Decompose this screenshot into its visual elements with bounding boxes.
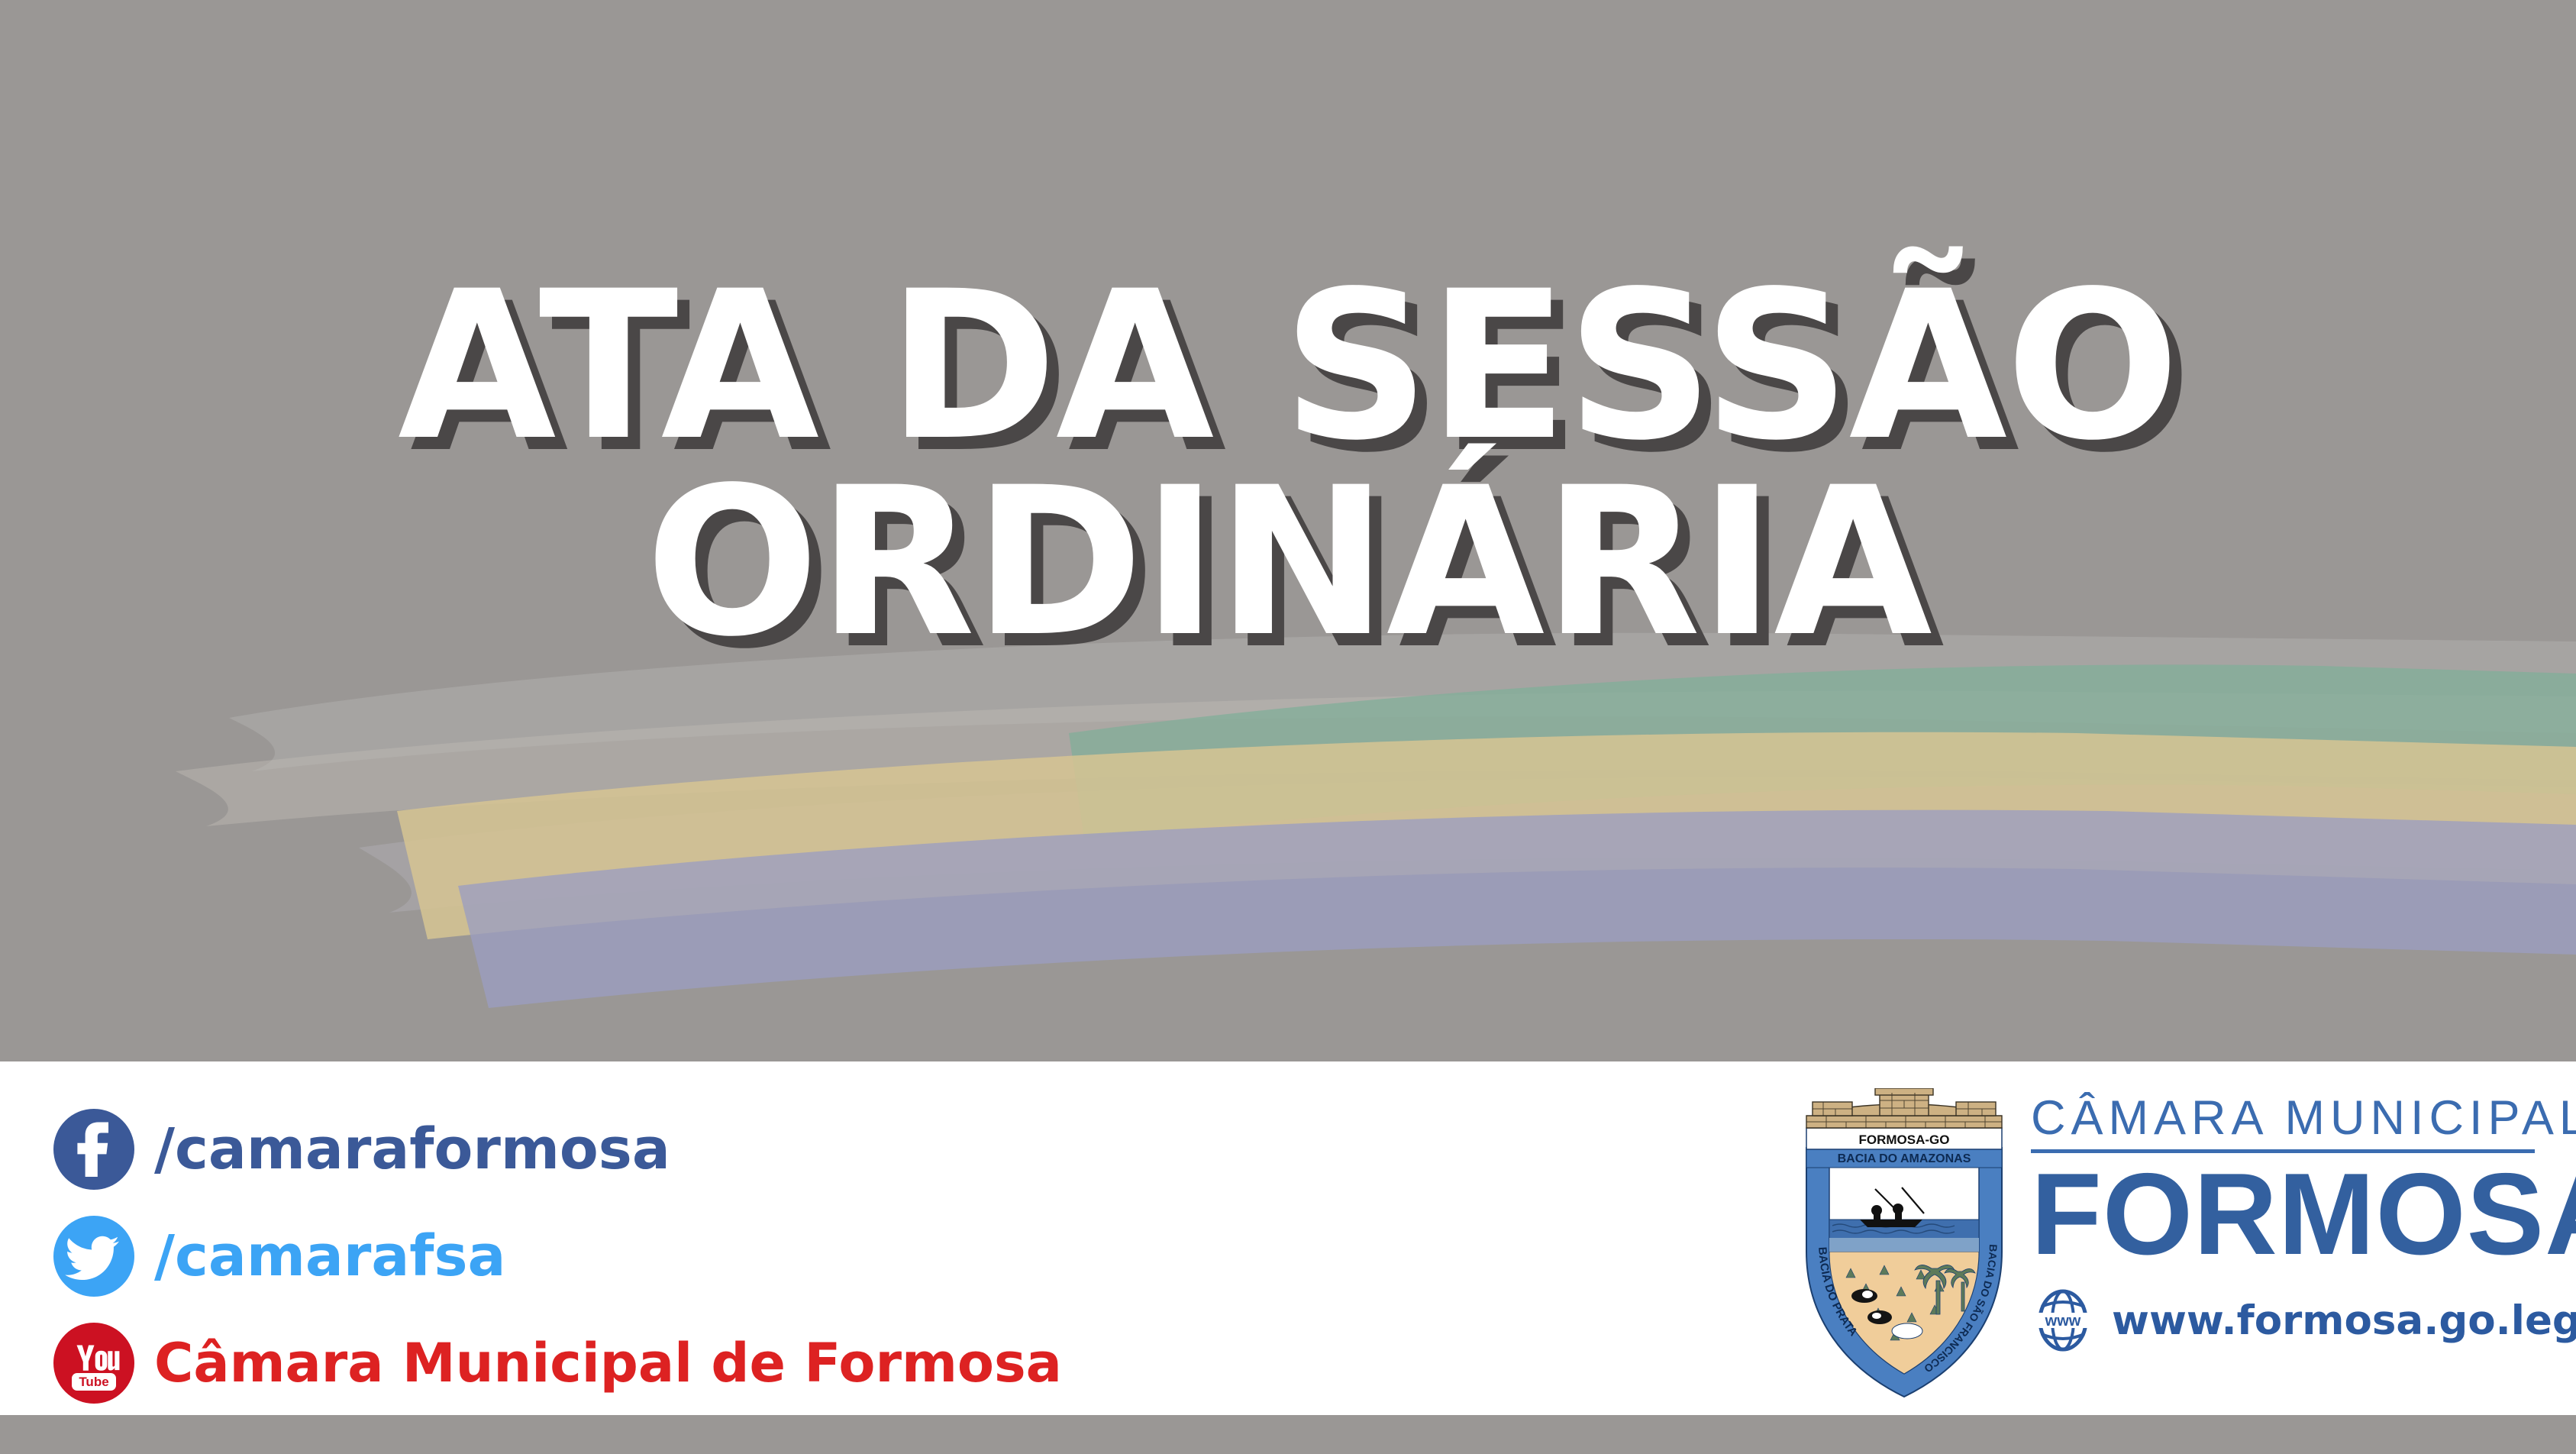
bottom-strip xyxy=(0,1415,2576,1454)
twitter-handle[interactable]: /camarafsa xyxy=(154,1228,505,1284)
svg-text:www: www xyxy=(2045,1313,2081,1330)
facebook-icon[interactable] xyxy=(53,1109,134,1190)
crest-band-label: BACIA DO AMAZONAS xyxy=(1838,1152,1971,1165)
social-row-youtube[interactable]: Tube Câmara Municipal de Formosa xyxy=(53,1310,1199,1417)
youtube-handle[interactable]: Câmara Municipal de Formosa xyxy=(154,1336,1062,1390)
page-title: ATA DA SESSÃO ORDINÁRIA xyxy=(0,269,2576,662)
www-globe-icon: www xyxy=(2031,1288,2095,1352)
social-links: /camaraformosa /camarafsa xyxy=(53,1096,1199,1417)
brand-kicker: CÂMARA MUNICIPAL xyxy=(2031,1093,2558,1143)
hero-panel: ATA DA SESSÃO ORDINÁRIA xyxy=(0,0,2576,1061)
formosa-coat-of-arms: BACIA DO AMAZONAS FORMOSA-GO xyxy=(1800,1088,2008,1401)
slide-canvas: ATA DA SESSÃO ORDINÁRIA /camaraformosa /… xyxy=(0,0,2576,1454)
svg-text:Tube: Tube xyxy=(79,1375,108,1389)
brand-name: FORMOSA xyxy=(2031,1158,2558,1271)
social-row-facebook[interactable]: /camaraformosa xyxy=(53,1096,1199,1203)
brand-url-row[interactable]: www www.formosa.go.leg.br xyxy=(2031,1288,2558,1352)
twitter-icon[interactable] xyxy=(53,1216,134,1297)
brand-logo[interactable]: BACIA DO AMAZONAS FORMOSA-GO xyxy=(1800,1088,2564,1417)
youtube-icon[interactable]: Tube xyxy=(53,1323,134,1404)
crest-top-label: FORMOSA-GO xyxy=(1859,1133,1950,1147)
facebook-handle[interactable]: /camaraformosa xyxy=(154,1121,670,1178)
brand-text-block: CÂMARA MUNICIPAL FORMOSA www www.formosa… xyxy=(2031,1093,2558,1352)
social-row-twitter[interactable]: /camarafsa xyxy=(53,1203,1199,1310)
brand-url[interactable]: www.formosa.go.leg.br xyxy=(2112,1301,2576,1341)
crest-shore xyxy=(1829,1238,1979,1252)
